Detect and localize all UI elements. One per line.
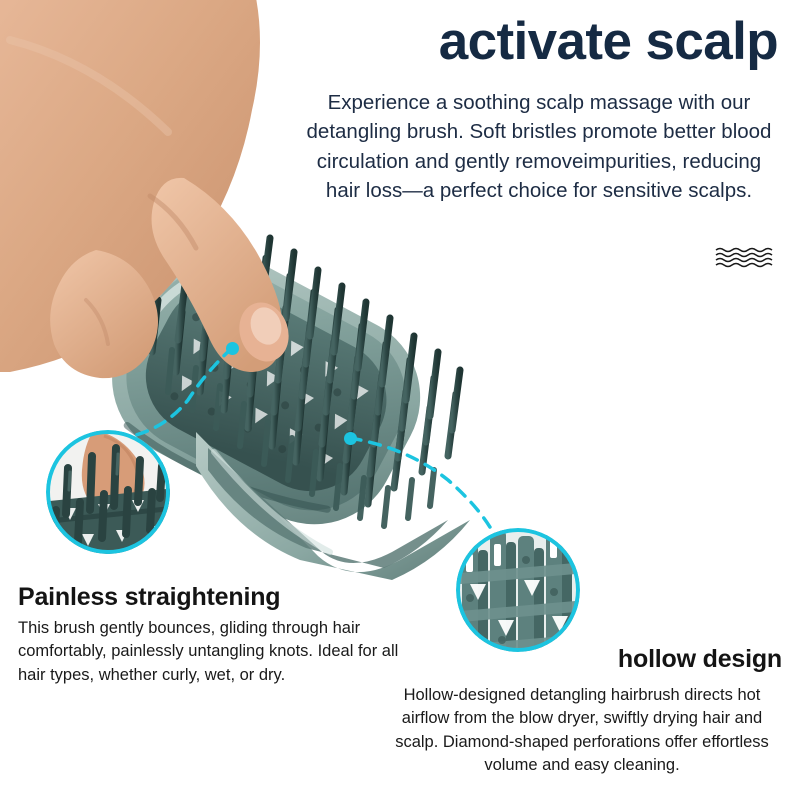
callout-anchor-dot-bristles[interactable] [226, 342, 239, 355]
wavy-lines-icon [714, 246, 776, 268]
callout-circle-bristle-detail[interactable] [46, 430, 170, 554]
feature-left-heading: Painless straightening [18, 583, 280, 612]
callout-left-content [46, 430, 170, 554]
bristle-detail-zoom-icon [46, 430, 170, 554]
feature-right-body: Hollow-designed detangling hairbrush dir… [382, 684, 782, 778]
feature-left-body: This brush gently bounces, gliding throu… [18, 617, 410, 687]
callout-right-content [456, 528, 580, 652]
brush-bristles [152, 238, 460, 526]
hollow-base-zoom-icon [456, 528, 580, 652]
product-marketing-image: activate scalp Experience a soothing sca… [0, 0, 800, 800]
intro-paragraph: Experience a soothing scalp massage with… [300, 88, 778, 205]
feature-right-heading: hollow design [618, 645, 782, 674]
page-title: activate scalp [308, 14, 778, 69]
brush-handle [196, 432, 470, 580]
callout-circle-hollow-base-detail[interactable] [456, 528, 580, 652]
callout-anchor-dot-hollow-base[interactable] [344, 432, 357, 445]
hand [0, 0, 296, 378]
